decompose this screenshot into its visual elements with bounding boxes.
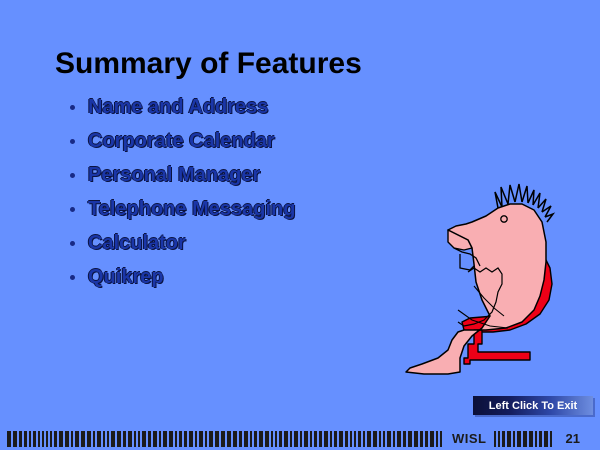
barcode-right-decoration bbox=[494, 431, 556, 447]
status-bar-label: WISL bbox=[452, 431, 487, 446]
list-item: Personal Manager bbox=[68, 158, 295, 192]
list-item-label: Calculator bbox=[88, 232, 186, 254]
list-item-label: Personal Manager bbox=[88, 164, 260, 186]
list-item: Calculator bbox=[68, 226, 295, 260]
eye-icon bbox=[501, 216, 507, 222]
list-item-label: Quikrep bbox=[88, 266, 164, 288]
slide-page-number: 21 bbox=[566, 431, 580, 446]
seated-man-cartoon-illustration bbox=[398, 180, 600, 375]
list-item: Quikrep bbox=[68, 260, 295, 294]
list-item-label: Corporate Calendar bbox=[88, 130, 275, 152]
presentation-slide: Summary of Features Name and Address Cor… bbox=[0, 0, 600, 450]
exit-button-label: Left Click To Exit bbox=[489, 400, 577, 412]
list-item-label: Telephone Messaging bbox=[88, 198, 295, 220]
left-click-to-exit-button[interactable]: Left Click To Exit bbox=[473, 396, 593, 415]
feature-list: Name and Address Corporate Calendar Pers… bbox=[68, 90, 295, 294]
list-item: Telephone Messaging bbox=[68, 192, 295, 226]
bullet-dot-icon bbox=[70, 173, 75, 178]
barcode-left-decoration bbox=[7, 431, 444, 447]
list-item: Name and Address bbox=[68, 90, 295, 124]
list-item: Corporate Calendar bbox=[68, 124, 295, 158]
bullet-dot-icon bbox=[70, 275, 75, 280]
bullet-dot-icon bbox=[70, 139, 75, 144]
status-bar: WISL 21 bbox=[0, 427, 600, 450]
bullet-dot-icon bbox=[70, 207, 75, 212]
page-title: Summary of Features bbox=[55, 47, 362, 81]
bullet-dot-icon bbox=[70, 241, 75, 246]
list-item-label: Name and Address bbox=[88, 96, 268, 118]
bullet-dot-icon bbox=[70, 105, 75, 110]
